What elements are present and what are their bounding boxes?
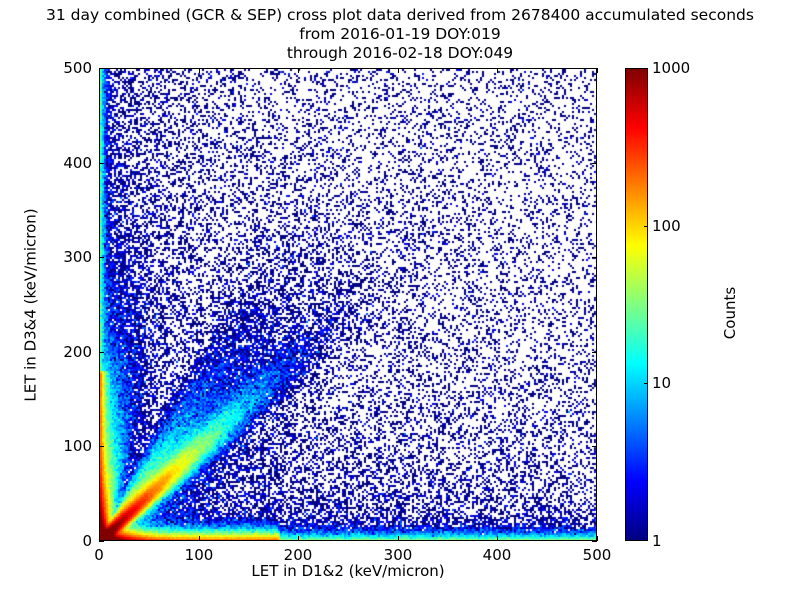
x-tick-top xyxy=(597,68,598,73)
y-tick-right xyxy=(592,68,597,69)
y-axis-label: LET in D3&4 (keV/micron) xyxy=(22,69,40,542)
y-tick-left xyxy=(99,68,104,69)
x-tick-top xyxy=(497,68,498,73)
y-tick-label: 200 xyxy=(39,343,92,361)
colorbar xyxy=(625,68,648,541)
x-tick-top xyxy=(199,68,200,73)
y-tick-label: 400 xyxy=(39,154,92,172)
y-tick-left xyxy=(99,446,104,447)
x-tick-top xyxy=(298,68,299,73)
colorbar-tick-label: 1 xyxy=(652,532,662,550)
density-scatter-plot xyxy=(100,69,597,541)
x-tick-bottom xyxy=(298,536,299,541)
y-tick-right xyxy=(592,163,597,164)
y-tick-label: 0 xyxy=(39,532,92,550)
x-tick-bottom xyxy=(398,536,399,541)
colorbar-tick-label: 100 xyxy=(652,217,681,235)
plot-area xyxy=(99,68,597,541)
colorbar-tick-label: 1000 xyxy=(652,59,690,77)
y-tick-left xyxy=(99,163,104,164)
y-tick-left xyxy=(99,352,104,353)
plot-title: 31 day combined (GCR & SEP) cross plot d… xyxy=(0,6,800,63)
y-tick-label: 100 xyxy=(39,437,92,455)
figure-canvas: 31 day combined (GCR & SEP) cross plot d… xyxy=(0,0,800,600)
x-tick-top xyxy=(398,68,399,73)
y-tick-label: 500 xyxy=(39,59,92,77)
y-tick-right xyxy=(592,352,597,353)
colorbar-tick xyxy=(644,226,648,227)
y-tick-right xyxy=(592,541,597,542)
colorbar-tick xyxy=(644,383,648,384)
colorbar-tick-label: 10 xyxy=(652,374,671,392)
x-tick-bottom xyxy=(597,536,598,541)
colorbar-label: Counts xyxy=(721,213,739,413)
x-tick-bottom xyxy=(199,536,200,541)
y-tick-label: 300 xyxy=(39,248,92,266)
title-line-2: from 2016-01-19 DOY:019 xyxy=(0,25,800,44)
y-tick-right xyxy=(592,446,597,447)
x-axis-label: LET in D1&2 (keV/micron) xyxy=(99,562,597,580)
y-tick-left xyxy=(99,541,104,542)
y-tick-right xyxy=(592,257,597,258)
x-tick-bottom xyxy=(497,536,498,541)
y-tick-left xyxy=(99,257,104,258)
title-line-1: 31 day combined (GCR & SEP) cross plot d… xyxy=(0,6,800,25)
colorbar-gradient xyxy=(626,69,647,540)
